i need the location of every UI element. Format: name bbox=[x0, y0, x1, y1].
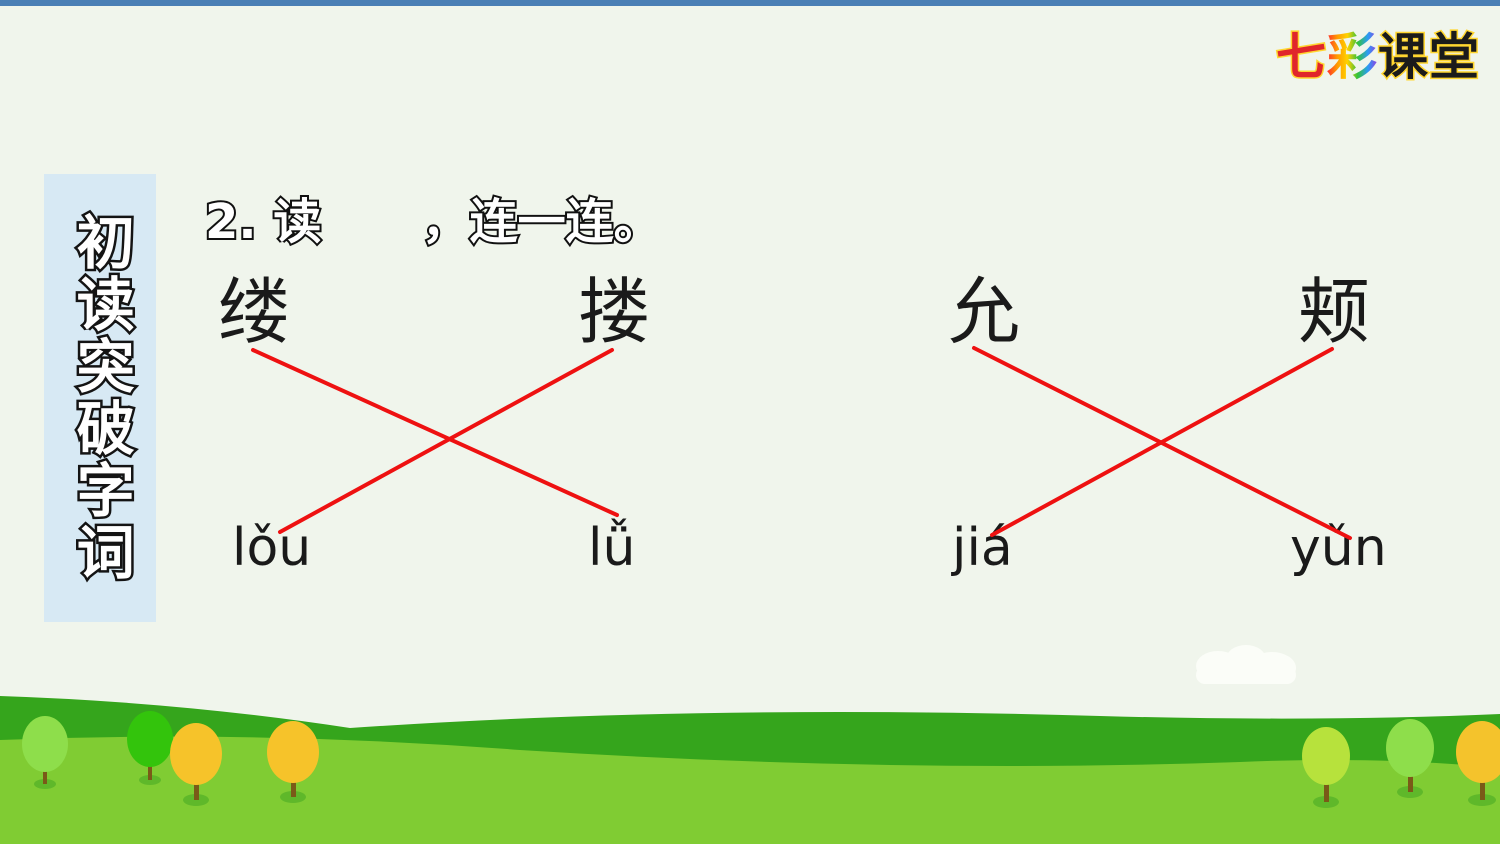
slide-canvas: 七彩课堂 初读突破字词 2. 读 ，连一连。 缕 搂 lǒu lǚ 允 颊 ji… bbox=[0, 0, 1500, 844]
top-accent-bar bbox=[0, 0, 1500, 6]
brand-logo: 七彩课堂 bbox=[1260, 18, 1480, 96]
match-group-right: 允 颊 jiá yǔn bbox=[930, 270, 1430, 600]
section-tab: 初读突破字词 bbox=[44, 174, 156, 622]
brand-logo-char-cai: 彩 bbox=[1327, 28, 1378, 86]
hanzi-lv[interactable]: 缕 bbox=[218, 270, 290, 354]
hanzi-lou[interactable]: 搂 bbox=[578, 270, 650, 354]
pinyin-lv[interactable]: lǚ bbox=[588, 518, 635, 578]
cloud-icon bbox=[1196, 645, 1296, 684]
pinyin-yun[interactable]: yǔn bbox=[1290, 518, 1387, 578]
hanzi-yun[interactable]: 允 bbox=[948, 270, 1020, 354]
scenery-decoration bbox=[0, 644, 1500, 844]
match-line-yun-to-yun bbox=[974, 348, 1350, 538]
brand-logo-char-ketang: 课堂 bbox=[1378, 28, 1480, 86]
match-line-lv-to-lv bbox=[253, 350, 617, 515]
pinyin-lou[interactable]: lǒu bbox=[232, 518, 311, 578]
match-line-jia-to-jia bbox=[992, 349, 1332, 535]
hanzi-jia[interactable]: 颊 bbox=[1298, 270, 1370, 354]
match-group-left: 缕 搂 lǒu lǚ bbox=[200, 270, 700, 600]
section-tab-label: 初读突破字词 bbox=[69, 212, 130, 584]
brand-logo-text: 七彩课堂 bbox=[1260, 18, 1480, 96]
exercise-prompt: 2. 读 ，连一连。 bbox=[205, 198, 662, 246]
pinyin-jia[interactable]: jiá bbox=[952, 518, 1013, 578]
match-line-lou-to-lou bbox=[280, 350, 612, 532]
brand-logo-char-qi: 七 bbox=[1276, 28, 1327, 86]
